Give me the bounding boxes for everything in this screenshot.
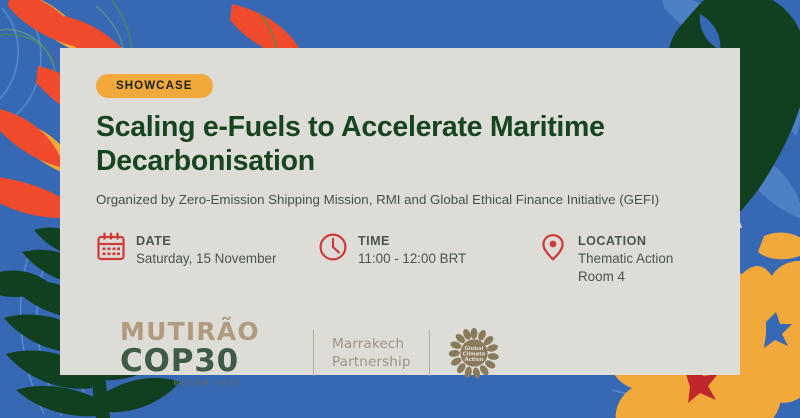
location-pin-icon [538, 232, 568, 262]
cop30-wordmark: COP30 [120, 345, 295, 378]
detail-date: DATE Saturday, 15 November [96, 231, 318, 268]
organizer-text: Organized by Zero-Emission Shipping Miss… [96, 191, 704, 208]
logo-divider-2 [429, 330, 430, 376]
event-details: DATE Saturday, 15 November TIME 11:00 - … [96, 231, 704, 286]
detail-location: LOCATION Thematic Action Room 4 [538, 231, 704, 286]
marrakech-line-2: Partnership [332, 353, 411, 371]
marrakech-line-1: Marrakech [332, 335, 411, 353]
logo-row: MUTIRÃO COP30 BELÉM 2025 Marrakech Partn… [120, 319, 704, 388]
gca-line-3: Action [464, 357, 483, 363]
event-banner: SHOWCASE Scaling e-Fuels to Accelerate M… [0, 0, 800, 418]
detail-location-value: Thematic Action Room 4 [578, 251, 673, 284]
clock-icon [318, 232, 348, 262]
event-card: SHOWCASE Scaling e-Fuels to Accelerate M… [60, 48, 740, 375]
detail-time-label: TIME [358, 234, 390, 248]
showcase-badge: SHOWCASE [96, 74, 213, 98]
detail-date-text: DATE Saturday, 15 November [136, 231, 276, 268]
page-title: Scaling e-Fuels to Accelerate Maritime D… [96, 111, 704, 178]
detail-time-value: 11:00 - 12:00 BRT [358, 251, 466, 266]
marrakech-partnership-logo: Marrakech Partnership [332, 335, 411, 372]
mutirao-wordmark: MUTIRÃO [120, 319, 295, 344]
detail-location-label: LOCATION [578, 234, 646, 248]
mutirao-cop30-logo: MUTIRÃO COP30 BELÉM 2025 [120, 319, 295, 388]
detail-date-label: DATE [136, 234, 171, 248]
global-climate-action-emblem: Global Climate Action [448, 327, 500, 379]
detail-date-value: Saturday, 15 November [136, 251, 276, 266]
calendar-icon [96, 232, 126, 262]
detail-location-text: LOCATION Thematic Action Room 4 [578, 231, 704, 286]
detail-time: TIME 11:00 - 12:00 BRT [318, 231, 538, 268]
detail-time-text: TIME 11:00 - 12:00 BRT [358, 231, 466, 268]
belem-2025-label: BELÉM 2025 [120, 380, 295, 387]
logo-divider [313, 330, 314, 376]
